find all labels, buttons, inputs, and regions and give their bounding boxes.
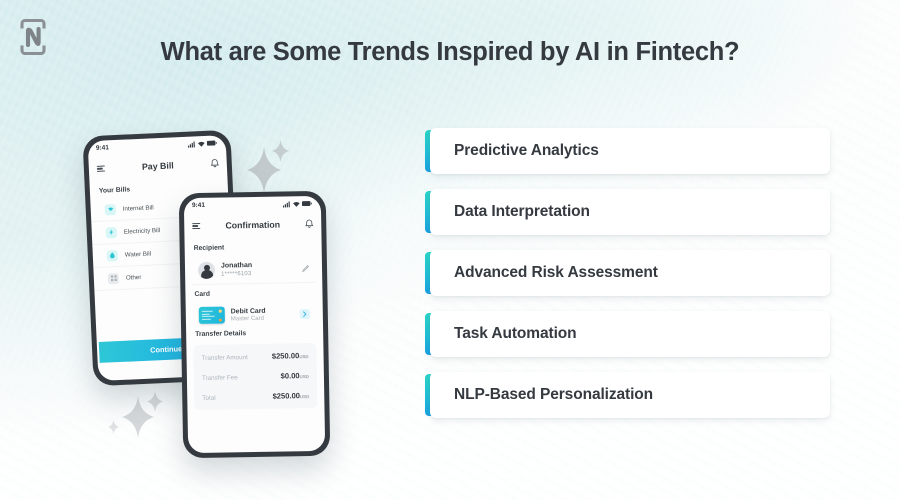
card-subtitle: Master Card (231, 316, 266, 323)
trend-item-data-interpretation[interactable]: Data Interpretation (425, 189, 830, 235)
trend-label: Advanced Risk Assessment (425, 264, 658, 282)
transfer-row-value: $0.00USD (281, 371, 309, 380)
transfer-row-total: Total $250.00USD (194, 385, 317, 407)
hamburger-icon[interactable] (97, 165, 105, 172)
recipient-account-masked: 1*****6103 (221, 271, 252, 278)
trend-label: Task Automation (425, 325, 577, 343)
bell-icon[interactable] (210, 154, 219, 172)
transfer-row-key: Transfer Fee (202, 374, 238, 382)
trend-item-predictive-analytics[interactable]: Predictive Analytics (425, 128, 830, 174)
grid-icon (108, 272, 119, 283)
bolt-bill-icon (106, 227, 117, 238)
signal-icon (283, 201, 290, 207)
bill-label: Water Bill (125, 250, 152, 258)
bell-icon[interactable] (305, 215, 313, 233)
hamburger-icon[interactable] (192, 222, 200, 229)
transfer-row-fee: Transfer Fee $0.00USD (194, 365, 317, 387)
transfer-details-label: Transfer Details (186, 327, 323, 342)
confirmation-screen: 9:41 Confirmation Recipient Jonathan (184, 196, 325, 453)
transfer-row-key: Transfer Amount (202, 354, 248, 362)
pencil-icon[interactable] (302, 259, 309, 277)
recipient-row[interactable]: Jonathan 1*****6103 (192, 254, 315, 285)
transfer-total-currency: USD (300, 394, 309, 399)
trend-item-advanced-risk-assessment[interactable]: Advanced Risk Assessment (425, 250, 830, 296)
confirmation-title: Confirmation (184, 219, 321, 231)
wifi-icon (292, 201, 299, 207)
confirmation-appbar: Confirmation (184, 211, 321, 239)
bill-label: Electricity Bill (124, 227, 161, 236)
wifi-icon (197, 140, 204, 146)
recipient-name: Jonathan (221, 261, 252, 271)
status-time: 9:41 (192, 202, 205, 209)
transfer-details-box: Transfer Amount $250.00USD Transfer Fee … (193, 343, 317, 410)
phone-mockups: 9:41 Pay Bill Your Bills Inte (0, 0, 430, 500)
bill-label: Other (126, 273, 142, 281)
transfer-row-value: $250.00USD (272, 351, 309, 361)
transfer-total-value: $250.00 (272, 391, 300, 400)
bill-label: Internet Bill (123, 204, 154, 212)
chevron-right-icon[interactable] (300, 309, 310, 319)
water-drop-icon (107, 250, 118, 261)
wifi-bill-icon (104, 204, 115, 215)
status-time: 9:41 (96, 144, 109, 152)
trend-label: Predictive Analytics (425, 142, 599, 160)
transfer-amount-currency: USD (299, 354, 308, 359)
pay-bill-title: Pay Bill (89, 158, 227, 174)
trend-list: Predictive Analytics Data Interpretation… (425, 128, 830, 433)
trend-item-nlp-based-personalization[interactable]: NLP-Based Personalization (425, 372, 830, 418)
transfer-row-value: $250.00USD (272, 391, 309, 401)
phone-mockup-confirmation: 9:41 Confirmation Recipient Jonathan (179, 191, 331, 459)
transfer-row-key: Total (202, 394, 215, 401)
avatar (198, 261, 215, 278)
signal-icon (188, 141, 195, 147)
transfer-amount-value: $250.00 (272, 351, 300, 360)
card-row-debit[interactable]: Debit Card Master Card (193, 300, 316, 329)
trend-label: NLP-Based Personalization (425, 386, 653, 404)
debit-card-graphic (199, 307, 225, 324)
transfer-fee-value: $0.00 (281, 371, 300, 380)
battery-icon (302, 201, 312, 206)
transfer-row-amount: Transfer Amount $250.00USD (193, 345, 316, 367)
battery-icon (207, 140, 217, 145)
trend-label: Data Interpretation (425, 203, 590, 221)
card-title: Debit Card (231, 306, 266, 316)
transfer-fee-currency: USD (300, 374, 309, 379)
trend-item-task-automation[interactable]: Task Automation (425, 311, 830, 357)
